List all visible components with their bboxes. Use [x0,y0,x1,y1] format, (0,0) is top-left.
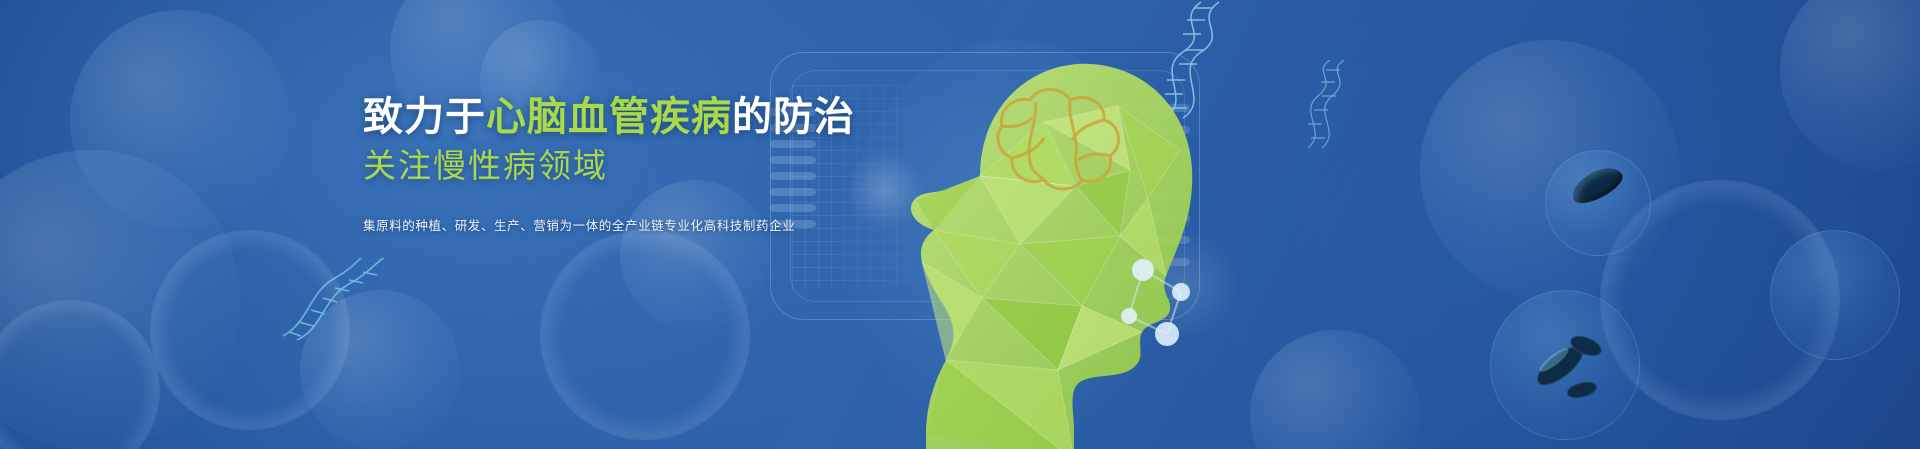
banner-headline: 致力于心脑血管疾病的防治 [363,96,783,139]
bokeh-circle [0,150,240,449]
bokeh-circle [70,10,290,230]
cell-icon [1770,230,1900,360]
bokeh-ring [0,300,160,449]
banner-subline: 关注慢性病领域 [363,148,783,185]
cell-icon [1545,150,1651,256]
headline-highlight: 心脑血管疾病 [486,95,732,139]
banner-copy: 致力于心脑血管疾病的防治 关注慢性病领域 集原料的种植、研发、生产、营销为一体的… [363,96,783,234]
dna-helix-small-icon [1290,60,1360,150]
bokeh-circle [1780,0,1920,170]
headline-suffix: 的防治 [732,95,855,139]
bacteria-icon [1520,320,1616,416]
molecule-icon [1095,230,1225,360]
banner-tagline: 集原料的种植、研发、生产、营销为一体的全产业链专业化高科技制药企业 [363,215,783,234]
bokeh-ring [540,230,750,440]
headline-prefix: 致力于 [363,95,486,139]
bokeh-circle [1250,330,1420,449]
bokeh-circle [1420,40,1680,300]
dna-helix-left-icon [275,258,415,343]
hero-banner: 致力于心脑血管疾病的防治 关注慢性病领域 集原料的种植、研发、生产、营销为一体的… [0,0,1920,449]
